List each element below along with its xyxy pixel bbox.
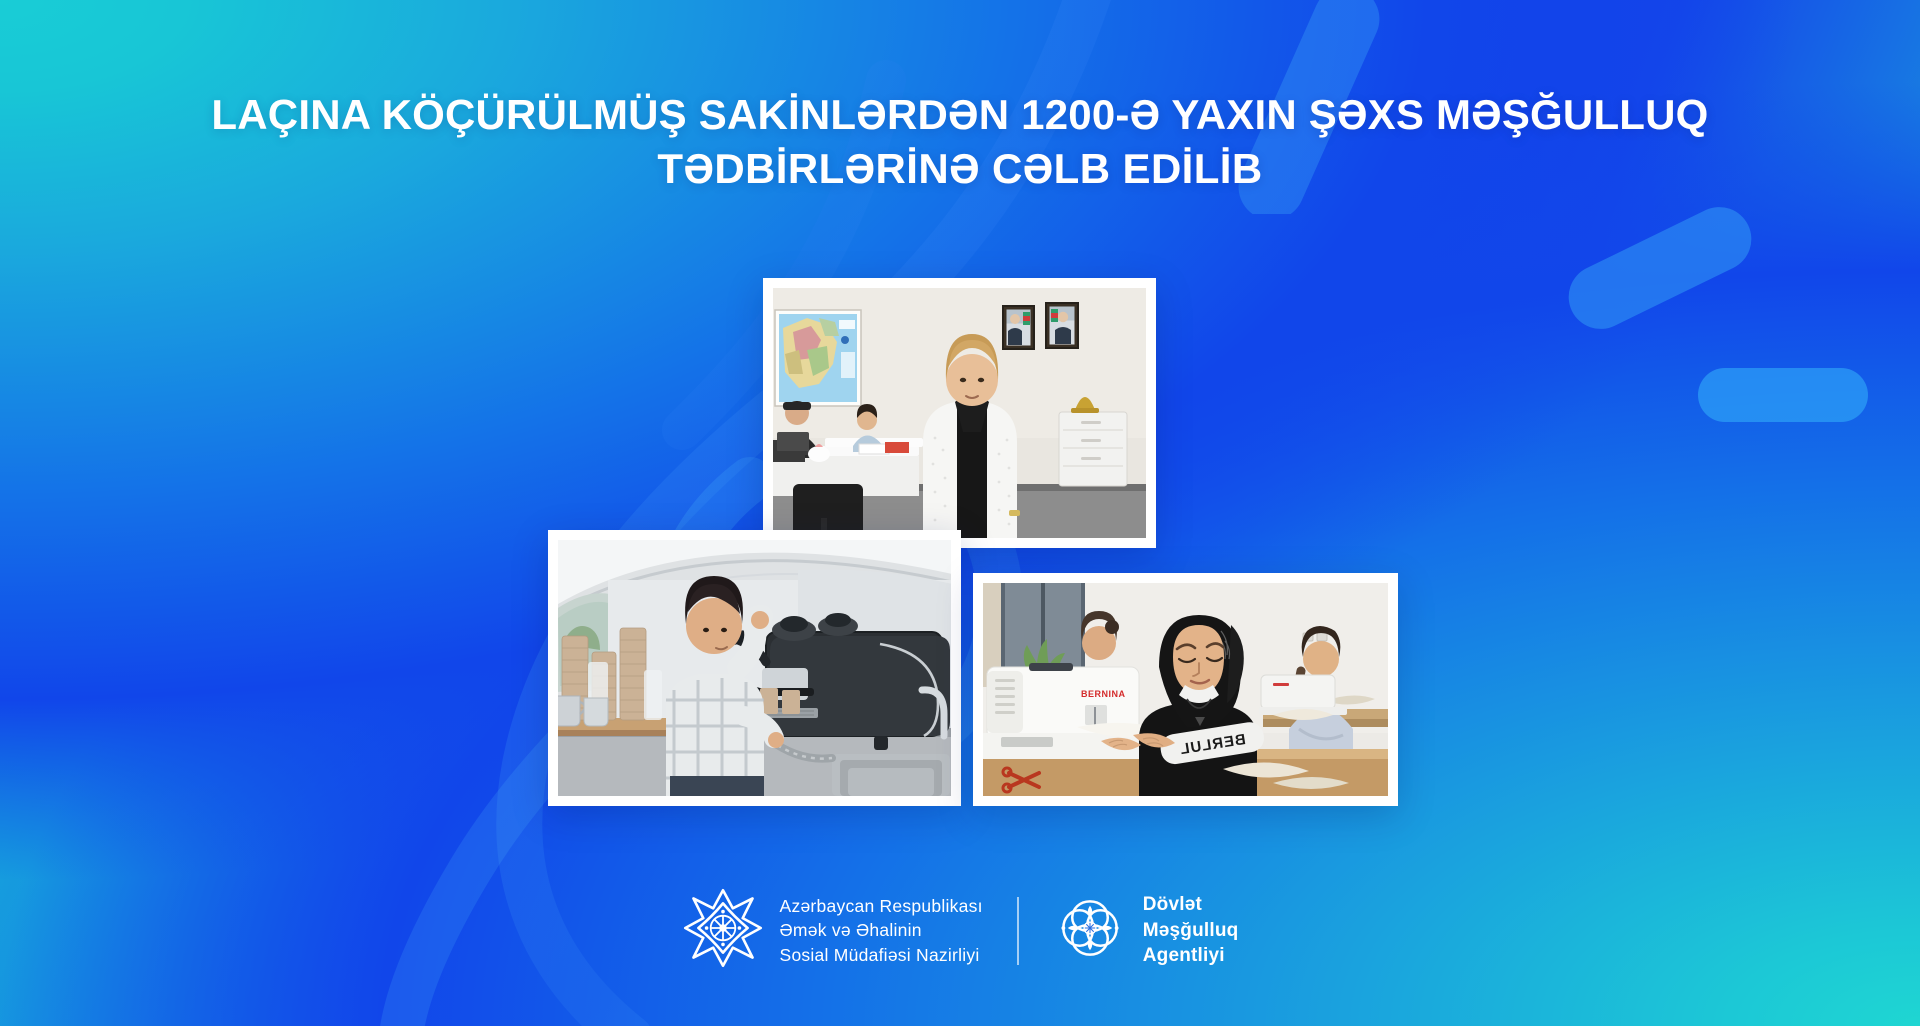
- photo-sewing-workshop: BERNINA: [983, 583, 1388, 796]
- photo-barista-illustration: [558, 540, 951, 796]
- state-employment-agency-knot-emblem-icon: [1053, 891, 1127, 970]
- poster-title-line-1: LAÇINA KÖÇÜRÜLMÜŞ SAKİNLƏRDƏN 1200-Ə YAX…: [190, 88, 1730, 142]
- ministry-logo-block[interactable]: Azərbaycan Respublikası Əmək və Əhalinin…: [682, 887, 983, 974]
- photo-office-illustration: [773, 288, 1146, 538]
- poster-title: LAÇINA KÖÇÜRÜLMÜŞ SAKİNLƏRDƏN 1200-Ə YAX…: [0, 88, 1920, 196]
- wall-map: [775, 310, 861, 406]
- azerbaijan-ministry-star-emblem-icon: [682, 887, 764, 974]
- photo-frame-coffee-trailer: [548, 530, 961, 806]
- watermark-pill-horizontal-icon: [1690, 350, 1880, 440]
- ministry-logo-line-2: Əmək və Əhalinin: [780, 918, 983, 942]
- poster-title-line-2: TƏDBİRLƏRİNƏ CƏLB EDİLİB: [190, 142, 1730, 196]
- photo-office-employment-center: [773, 288, 1146, 538]
- agency-logo-line-2: Məşğulluq: [1143, 918, 1239, 943]
- ministry-logo-text: Azərbaycan Respublikası Əmək və Əhalinin…: [780, 894, 983, 966]
- footer-logos: Azərbaycan Respublikası Əmək və Əhalinin…: [0, 887, 1920, 974]
- logo-divider: [1017, 897, 1019, 965]
- photo-sewing-illustration: BERNINA: [983, 583, 1388, 796]
- agency-logo-text: Dövlət Məşğulluq Agentliyi: [1143, 892, 1239, 968]
- ministry-logo-line-1: Azərbaycan Respublikası: [780, 894, 983, 918]
- svg-text:BERNINA: BERNINA: [1081, 689, 1126, 699]
- agency-logo-block[interactable]: Dövlət Məşğulluq Agentliyi: [1053, 891, 1239, 970]
- photo-frame-sewing-workshop: BERNINA: [973, 573, 1398, 806]
- agency-logo-line-1: Dövlət: [1143, 892, 1239, 917]
- photo-frame-office: [763, 278, 1156, 548]
- photo-collage: BERNINA: [548, 278, 1398, 806]
- photo-barista-coffee-trailer: [558, 540, 951, 796]
- watermark-pill-slanted-icon: [1548, 190, 1778, 350]
- ministry-logo-line-3: Sosial Müdafiəsi Nazirliyi: [780, 943, 983, 967]
- sewing-machine-back: [1259, 675, 1347, 715]
- poster-canvas: LAÇINA KÖÇÜRÜLMÜŞ SAKİNLƏRDƏN 1200-Ə YAX…: [0, 0, 1920, 1026]
- agency-logo-line-3: Agentliyi: [1143, 943, 1239, 968]
